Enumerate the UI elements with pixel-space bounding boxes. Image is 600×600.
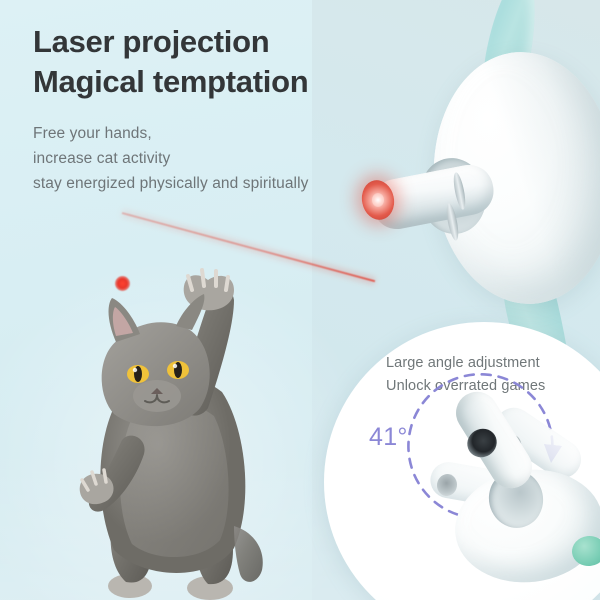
page-title: Laser projection Magical temptation [33,22,308,103]
angle-value-label: 41° [369,423,408,452]
laser-lens-core [372,193,384,207]
headline-line-1: Laser projection [33,22,308,62]
subtitle-line-1: Free your hands, [33,121,309,146]
subtitle-line-3: stay energized physically and spirituall… [33,171,309,196]
product-marketing-banner: Laser projection Magical temptation Free… [0,0,600,600]
subtitle-line-2: increase cat activity [33,146,309,171]
headline-line-2: Magical temptation [33,62,308,102]
cat-photo [58,268,284,600]
subtitle: Free your hands, increase cat activity s… [33,121,309,196]
